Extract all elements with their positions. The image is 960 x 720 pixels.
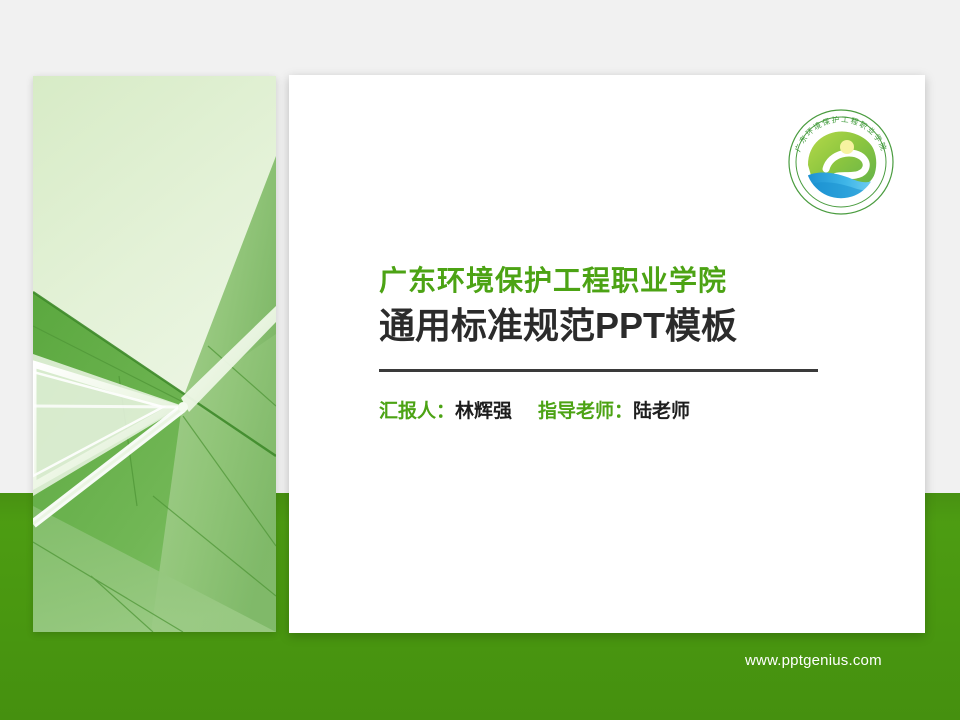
college-emblem-icon: 广东环境保护工程职业学院 xyxy=(786,107,896,217)
title-block: 广东环境保护工程职业学院 通用标准规范PPT模板 汇报人：林辉强指导老师：陆老师 xyxy=(379,264,839,424)
presenter-info-row: 汇报人：林辉强指导老师：陆老师 xyxy=(379,400,839,425)
cover-photo-panel xyxy=(33,76,276,632)
abstract-green-architecture-photo xyxy=(33,76,276,632)
page-title: 通用标准规范PPT模板 xyxy=(379,304,839,347)
institution-name: 广东环境保护工程职业学院 xyxy=(379,264,839,298)
presentation-slide: 广东环境保护工程职业学院 广东环境保护工程职业学院 通用标准规范PPT模板 xyxy=(0,0,960,720)
title-divider xyxy=(379,369,818,372)
college-logo: 广东环境保护工程职业学院 xyxy=(786,107,896,217)
advisor-name: 陆老师 xyxy=(633,401,690,422)
footer-website-url: www.pptgenius.com xyxy=(745,652,882,669)
advisor-label: 指导老师： xyxy=(538,401,633,422)
presenter-name: 林辉强 xyxy=(455,401,512,422)
presenter-label: 汇报人： xyxy=(379,401,455,422)
